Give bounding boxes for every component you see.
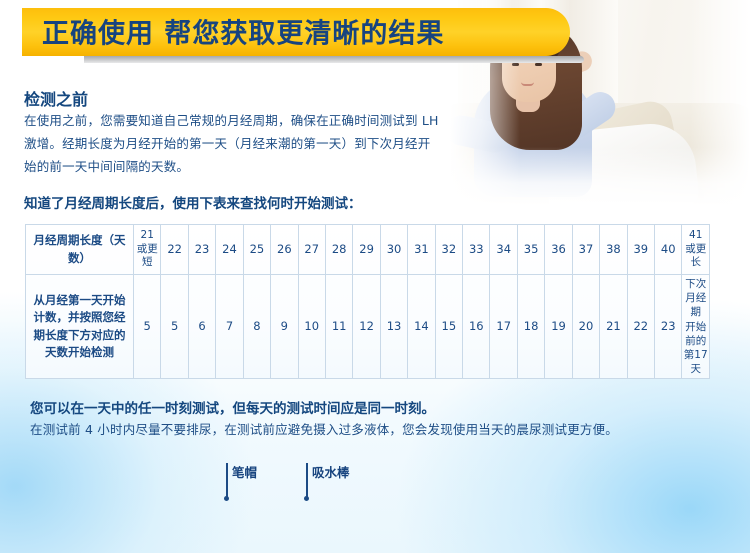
cycle-cell-26: 26	[271, 225, 298, 275]
photo-fade-right	[690, 0, 750, 205]
cycle-cell-39: 39	[627, 225, 654, 275]
start-day-cell-5: 8	[243, 275, 270, 379]
start-day-cell-18: 21	[600, 275, 627, 379]
page-root: 正确使用 帮您获取更清晰的结果 检测之前 在使用之前，您需要知道自己常规的月经周…	[0, 0, 750, 553]
banner-plate: 正确使用 帮您获取更清晰的结果	[22, 8, 570, 56]
product-diagram: ↷ Clearblue	[0, 452, 750, 553]
cycle-cell-30: 30	[380, 225, 407, 275]
cycle-cell-32: 32	[435, 225, 462, 275]
start-day-cell-9: 12	[353, 275, 380, 379]
cycle-cell-38: 38	[600, 225, 627, 275]
callout-dot-absorbent	[304, 496, 309, 501]
cycle-cell-35: 35	[517, 225, 544, 275]
callout-dot-cap	[224, 496, 229, 501]
header-banner: 正确使用 帮您获取更清晰的结果	[22, 8, 582, 60]
cycle-cell-25: 25	[243, 225, 270, 275]
table-header-label: 月经周期长度（天数）	[26, 225, 134, 275]
cycle-21-value: 21	[135, 229, 159, 243]
cycle-cell-23: 23	[188, 225, 215, 275]
cycle-cell-27: 27	[298, 225, 325, 275]
cycle-cell-28: 28	[325, 225, 352, 275]
start-day-last-line3: 开始前的	[683, 320, 708, 348]
start-day-cell-12: 15	[435, 275, 462, 379]
cycle-cell-24: 24	[216, 225, 243, 275]
cycle-cell-21-or-shorter: 21 或更短	[134, 225, 161, 275]
start-day-cell-16: 19	[545, 275, 572, 379]
cycle-cell-29: 29	[353, 225, 380, 275]
cycle-cell-40: 40	[655, 225, 682, 275]
start-day-cell-2: 5	[161, 275, 188, 379]
start-day-last-line4: 第17天	[683, 348, 708, 376]
start-day-cell-10: 13	[380, 275, 407, 379]
start-day-cell-7: 10	[298, 275, 325, 379]
anytime-heading: 您可以在一天中的任一时刻测试，但每天的测试时间应是同一时刻。	[30, 397, 435, 417]
start-day-cell-19: 22	[627, 275, 654, 379]
table-intro-heading: 知道了月经周期长度后，使用下表来查找何时开始测试：	[24, 192, 362, 212]
table-header-label-line1: 月经周期长度（天数）	[32, 232, 127, 267]
start-day-cell-11: 14	[408, 275, 435, 379]
cycle-41-sub: 或更长	[683, 243, 708, 271]
anytime-paragraph: 在测试前 4 小时内尽量不要排尿，在测试前应避免摄入过多液体，您会发现使用当天的…	[30, 419, 690, 442]
cycle-21-sub: 或更短	[135, 243, 159, 271]
start-day-cell-1: 5	[134, 275, 161, 379]
callout-line-absorbent	[306, 463, 308, 498]
start-day-cell-13: 16	[463, 275, 490, 379]
callout-label-cap: 笔帽	[232, 462, 257, 481]
photo-mouth	[521, 82, 534, 86]
cycle-cell-41-or-longer: 41 或更长	[682, 225, 710, 275]
start-day-cell-last: 下次 月经期 开始前的 第17天	[682, 275, 710, 379]
banner-title: 正确使用 帮您获取更清晰的结果	[42, 12, 444, 51]
cycle-cell-37: 37	[572, 225, 599, 275]
start-day-cell-3: 6	[188, 275, 215, 379]
table-row-header: 月经周期长度（天数） 21 或更短 22 23 24 25 26 27 28 2…	[26, 225, 710, 275]
table-row-start-day: 从月经第一天开始计数，并按照您经期长度下方对应的天数开始检测 5 5 6 7 8…	[26, 275, 710, 379]
cycle-length-table: 月经周期长度（天数） 21 或更短 22 23 24 25 26 27 28 2…	[25, 224, 710, 379]
table-body-label: 从月经第一天开始计数，并按照您经期长度下方对应的天数开始检测	[26, 275, 134, 379]
start-day-cell-20: 23	[655, 275, 682, 379]
cycle-41-value: 41	[683, 229, 708, 243]
photo-eye-right	[535, 63, 542, 66]
start-day-cell-15: 18	[517, 275, 544, 379]
start-day-cell-17: 20	[572, 275, 599, 379]
before-test-paragraph: 在使用之前，您需要知道自己常规的月经周期，确保在正确时间测试到 LH 激增。经期…	[24, 110, 439, 178]
start-day-last-line1: 下次	[683, 277, 708, 291]
start-day-cell-8: 11	[325, 275, 352, 379]
cycle-cell-34: 34	[490, 225, 517, 275]
start-day-cell-6: 9	[271, 275, 298, 379]
cycle-cell-36: 36	[545, 225, 572, 275]
callout-label-absorbent: 吸水棒	[312, 462, 350, 481]
callout-line-cap	[226, 463, 228, 498]
cycle-cell-31: 31	[408, 225, 435, 275]
start-day-cell-4: 7	[216, 275, 243, 379]
section-heading-before-test: 检测之前	[24, 86, 88, 110]
cycle-cell-33: 33	[463, 225, 490, 275]
cycle-cell-22: 22	[161, 225, 188, 275]
start-day-cell-14: 17	[490, 275, 517, 379]
banner-shadow	[84, 56, 584, 63]
start-day-last-line2: 月经期	[683, 291, 708, 319]
